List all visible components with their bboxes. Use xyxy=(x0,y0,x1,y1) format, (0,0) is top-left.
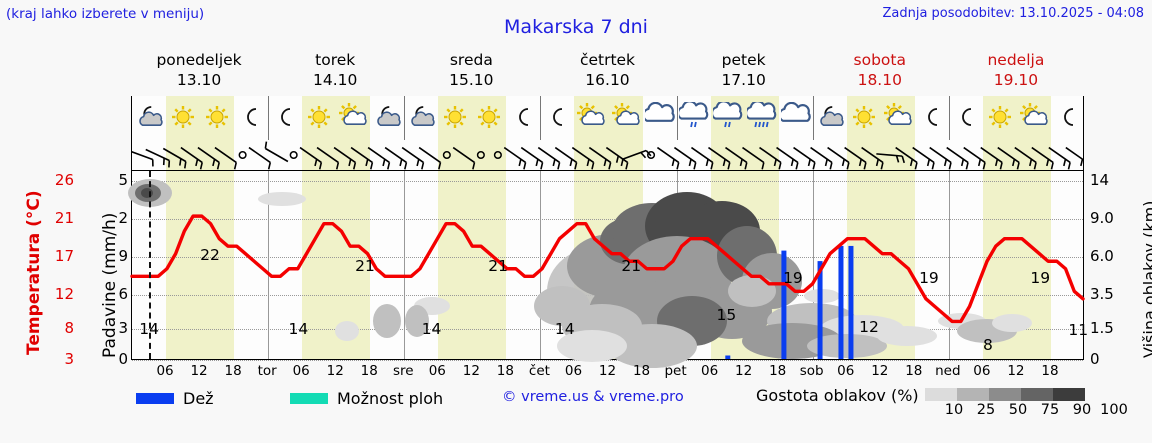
cloud-height-axis-title: Višina oblakov (km) xyxy=(1140,201,1152,358)
day-date: 17.10 xyxy=(676,70,812,90)
time-tick: 12 xyxy=(327,363,344,379)
legend-label-rain: Dež xyxy=(183,389,214,408)
day-name: nedelja xyxy=(948,50,1084,70)
temperature-value-label: 14 xyxy=(422,320,442,338)
day-date: 15.10 xyxy=(403,70,539,90)
time-tick: 18 xyxy=(1041,363,1058,379)
weather-icon-cloud-rain xyxy=(679,102,709,136)
cloud-height-tick: 0 xyxy=(1090,350,1130,368)
temperature-value-label: 21 xyxy=(621,257,641,275)
time-tick: 18 xyxy=(769,363,786,379)
cloud-density-title: Gostota oblakov (%) xyxy=(756,386,919,405)
day-date: 13.10 xyxy=(131,70,267,90)
weather-icon-sun-cloud xyxy=(576,102,606,136)
precipitation-tick: 6 xyxy=(100,285,128,303)
time-tick: 06 xyxy=(429,363,446,379)
weather-icon-moon-cloud xyxy=(815,102,845,136)
time-tick: ned xyxy=(935,363,960,379)
weather-icon-sun xyxy=(202,102,232,136)
weather-icon-sun xyxy=(474,102,504,136)
precipitation-tick: 9 xyxy=(100,247,128,265)
day-date: 14.10 xyxy=(267,70,403,90)
time-tick: 18 xyxy=(361,363,378,379)
cloud-height-axis-ticks: 149.06.03.51.50 xyxy=(1090,170,1130,360)
day-header-sobota: sobota18.10 xyxy=(812,50,948,92)
cloud-density-value: 50 xyxy=(1009,402,1027,418)
time-tick: čet xyxy=(529,363,550,379)
weather-icon-moon xyxy=(508,102,538,136)
cloud-density-swatch xyxy=(925,388,957,401)
cloud-height-tick: 6.0 xyxy=(1090,247,1130,265)
temperature-tick: 8 xyxy=(40,319,74,337)
weather-icon-moon xyxy=(1053,102,1083,136)
weather-icon-sun xyxy=(440,102,470,136)
time-tick: 06 xyxy=(837,363,854,379)
cloud-height-tick: 14 xyxy=(1090,171,1130,189)
cloud-density-swatch xyxy=(1021,388,1053,401)
showers-color-swatch xyxy=(290,393,328,404)
chart-legend: Dež Možnost ploh © vreme.us & vreme.pro … xyxy=(131,385,1141,421)
rain-color-swatch xyxy=(136,393,174,404)
cloud-density-legend: Gostota oblakov (%) xyxy=(756,385,1085,405)
time-tick: sob xyxy=(800,363,824,379)
day-header-petek: petek17.10 xyxy=(676,50,812,92)
weather-icon-sun xyxy=(168,102,198,136)
day-name: torek xyxy=(267,50,403,70)
cloud-density-value: 90 xyxy=(1073,402,1091,418)
weather-icon-moon-cloud xyxy=(372,102,402,136)
weather-icon-moon xyxy=(236,102,266,136)
temperature-value-label: 19 xyxy=(919,269,939,287)
cloud-height-tick: 3.5 xyxy=(1090,285,1130,303)
day-separator xyxy=(813,96,814,140)
cloud-density-value: 25 xyxy=(977,402,995,418)
day-name: sobota xyxy=(812,50,948,70)
time-tick: sre xyxy=(393,363,414,379)
temperature-tick: 21 xyxy=(40,209,74,227)
cloud-density-swatch xyxy=(957,388,989,401)
weather-icon-sun xyxy=(304,102,334,136)
day-header-row: ponedeljek13.10torek14.10sreda15.10četrt… xyxy=(131,50,1084,92)
temperature-value-label: 19 xyxy=(1030,269,1050,287)
time-tick: 06 xyxy=(565,363,582,379)
precipitation-axis-ticks: 529630 xyxy=(100,170,128,360)
time-tick: 12 xyxy=(871,363,888,379)
weather-icon-sun-cloud xyxy=(338,102,368,136)
temperature-value-label: 19 xyxy=(783,269,803,287)
day-date: 19.10 xyxy=(948,70,1084,90)
day-name: ponedeljek xyxy=(131,50,267,70)
day-date: 16.10 xyxy=(539,70,675,90)
weather-icon-moon xyxy=(542,102,572,136)
day-separator xyxy=(949,96,950,140)
time-tick: 18 xyxy=(225,363,242,379)
time-tick: 18 xyxy=(633,363,650,379)
precipitation-tick: 3 xyxy=(100,319,128,337)
day-separator xyxy=(404,96,405,140)
weather-icon-row xyxy=(131,96,1084,140)
weather-icon-cloud-rain xyxy=(713,102,743,136)
day-header-ponedeljek: ponedeljek13.10 xyxy=(131,50,267,92)
legend-item-showers: Možnost ploh xyxy=(290,388,443,408)
time-tick: 12 xyxy=(735,363,752,379)
time-axis-ticks: 061218tor061218sre061218čet061218pet0612… xyxy=(131,363,1084,381)
weather-icon-cloud xyxy=(781,102,811,136)
weather-icon-sun-cloud xyxy=(611,102,641,136)
day-header-torek: torek14.10 xyxy=(267,50,403,92)
time-tick: pet xyxy=(664,363,686,379)
forecast-plot: 14221421142114211519121981911 xyxy=(131,170,1084,360)
time-tick: 06 xyxy=(701,363,718,379)
temperature-tick: 17 xyxy=(40,247,74,265)
day-header-sreda: sreda15.10 xyxy=(403,50,539,92)
day-header-četrtek: četrtek16.10 xyxy=(539,50,675,92)
temperature-value-label: 22 xyxy=(200,246,220,264)
temperature-tick: 3 xyxy=(40,350,74,368)
weather-icon-cloud-rain-heavy xyxy=(747,102,777,136)
cloud-density-swatch xyxy=(1053,388,1085,401)
time-tick: 06 xyxy=(156,363,173,379)
cloud-density-value: 100 xyxy=(1100,402,1128,418)
day-separator xyxy=(677,96,678,140)
weather-icon-moon-cloud xyxy=(406,102,436,136)
time-tick: 18 xyxy=(905,363,922,379)
day-name: četrtek xyxy=(539,50,675,70)
cloud-height-tick: 9.0 xyxy=(1090,209,1130,227)
temperature-tick: 26 xyxy=(40,171,74,189)
temperature-value-label: 15 xyxy=(717,306,737,324)
time-tick: 06 xyxy=(293,363,310,379)
temperature-value-label: 14 xyxy=(555,320,575,338)
cloud-density-value: 75 xyxy=(1041,402,1059,418)
last-update-label: Zadnja posodobitev: 13.10.2025 - 04:08 xyxy=(882,6,1144,21)
temperature-curve xyxy=(132,171,1083,359)
weather-icon-moon xyxy=(270,102,300,136)
temperature-tick: 12 xyxy=(40,285,74,303)
time-tick: tor xyxy=(258,363,277,379)
weather-icon-moon xyxy=(951,102,981,136)
cloud-density-swatch xyxy=(989,388,1021,401)
temperature-value-label: 21 xyxy=(355,257,375,275)
temperature-value-label: 8 xyxy=(983,336,993,354)
weather-icon-sun xyxy=(849,102,879,136)
day-date: 18.10 xyxy=(812,70,948,90)
weather-icon-sun xyxy=(985,102,1015,136)
weather-icon-moon xyxy=(917,102,947,136)
day-name: petek xyxy=(676,50,812,70)
time-tick: 18 xyxy=(497,363,514,379)
wind-barbs xyxy=(132,140,1084,170)
weather-icon-moon-cloud xyxy=(134,102,164,136)
temperature-value-label: 14 xyxy=(139,320,159,338)
temperature-value-label: 12 xyxy=(859,318,879,336)
cloud-height-tick: 1.5 xyxy=(1090,319,1130,337)
precipitation-tick: 0 xyxy=(100,350,128,368)
precipitation-tick: 2 xyxy=(100,209,128,227)
day-name: sreda xyxy=(403,50,539,70)
weather-icon-sun-cloud xyxy=(1019,102,1049,136)
wind-barb-row xyxy=(131,140,1084,170)
time-tick: 12 xyxy=(463,363,480,379)
time-tick: 12 xyxy=(1007,363,1024,379)
time-tick: 12 xyxy=(190,363,207,379)
temperature-axis-ticks: 2621171283 xyxy=(40,170,74,360)
day-header-nedelja: nedelja19.10 xyxy=(948,50,1084,92)
copyright-notice[interactable]: © vreme.us & vreme.pro xyxy=(502,389,684,405)
day-separator xyxy=(268,96,269,140)
legend-label-showers: Možnost ploh xyxy=(337,389,443,408)
legend-item-rain: Dež xyxy=(136,388,214,408)
precipitation-tick: 5 xyxy=(100,171,128,189)
weather-icon-sun-cloud xyxy=(883,102,913,136)
temperature-value-label: 14 xyxy=(289,320,309,338)
cloud-density-value: 10 xyxy=(945,402,963,418)
time-tick: 06 xyxy=(973,363,990,379)
weather-icon-cloud xyxy=(645,102,675,136)
time-tick: 12 xyxy=(599,363,616,379)
day-separator xyxy=(540,96,541,140)
temperature-value-label: 11 xyxy=(1068,321,1088,339)
temperature-value-label: 21 xyxy=(488,257,508,275)
